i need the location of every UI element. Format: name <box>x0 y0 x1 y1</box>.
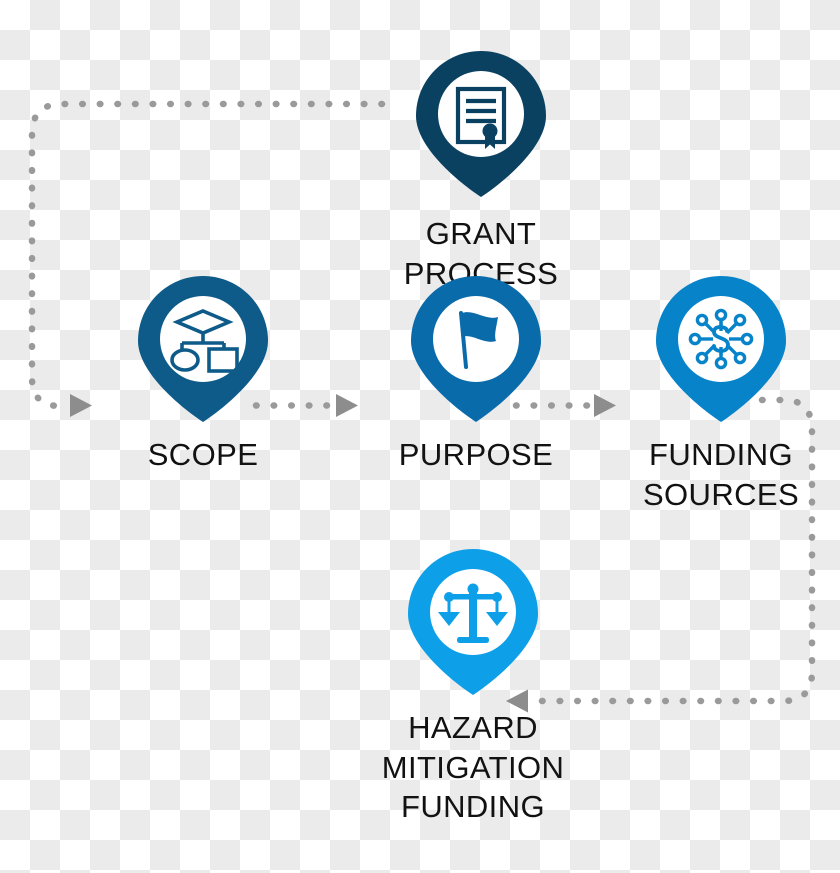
map-pin-shape <box>405 546 541 698</box>
map-pin-shape <box>653 273 789 425</box>
node-purpose[interactable]: PURPOSE <box>376 273 576 475</box>
pin-funding-sources[interactable] <box>653 273 789 425</box>
arrowhead-into-funding <box>594 394 616 417</box>
node-label-purpose: PURPOSE <box>399 435 553 475</box>
map-pin-shape <box>135 273 271 425</box>
diagram-canvas: GRANT PROCESS SCOPE <box>0 0 840 873</box>
node-label-scope: SCOPE <box>148 435 259 475</box>
arrowhead-into-scope <box>70 394 92 417</box>
pin-hazard-mitigation-funding[interactable] <box>405 546 541 698</box>
pin-grant-process[interactable] <box>413 48 549 200</box>
node-scope[interactable]: SCOPE <box>103 273 303 475</box>
node-grant-process[interactable]: GRANT PROCESS <box>381 48 581 293</box>
arrowhead-into-purpose <box>336 394 358 417</box>
node-hazard-mitigation-funding[interactable]: HAZARD MITIGATION FUNDING <box>373 546 573 827</box>
node-funding-sources[interactable]: FUNDING SOURCES <box>621 273 821 514</box>
pin-purpose[interactable] <box>408 273 544 425</box>
node-label-hazard-mitigation-funding: HAZARD MITIGATION FUNDING <box>382 708 565 827</box>
node-label-funding-sources: FUNDING SOURCES <box>643 435 799 514</box>
map-pin-shape <box>413 48 549 200</box>
map-pin-shape <box>408 273 544 425</box>
pin-scope[interactable] <box>135 273 271 425</box>
